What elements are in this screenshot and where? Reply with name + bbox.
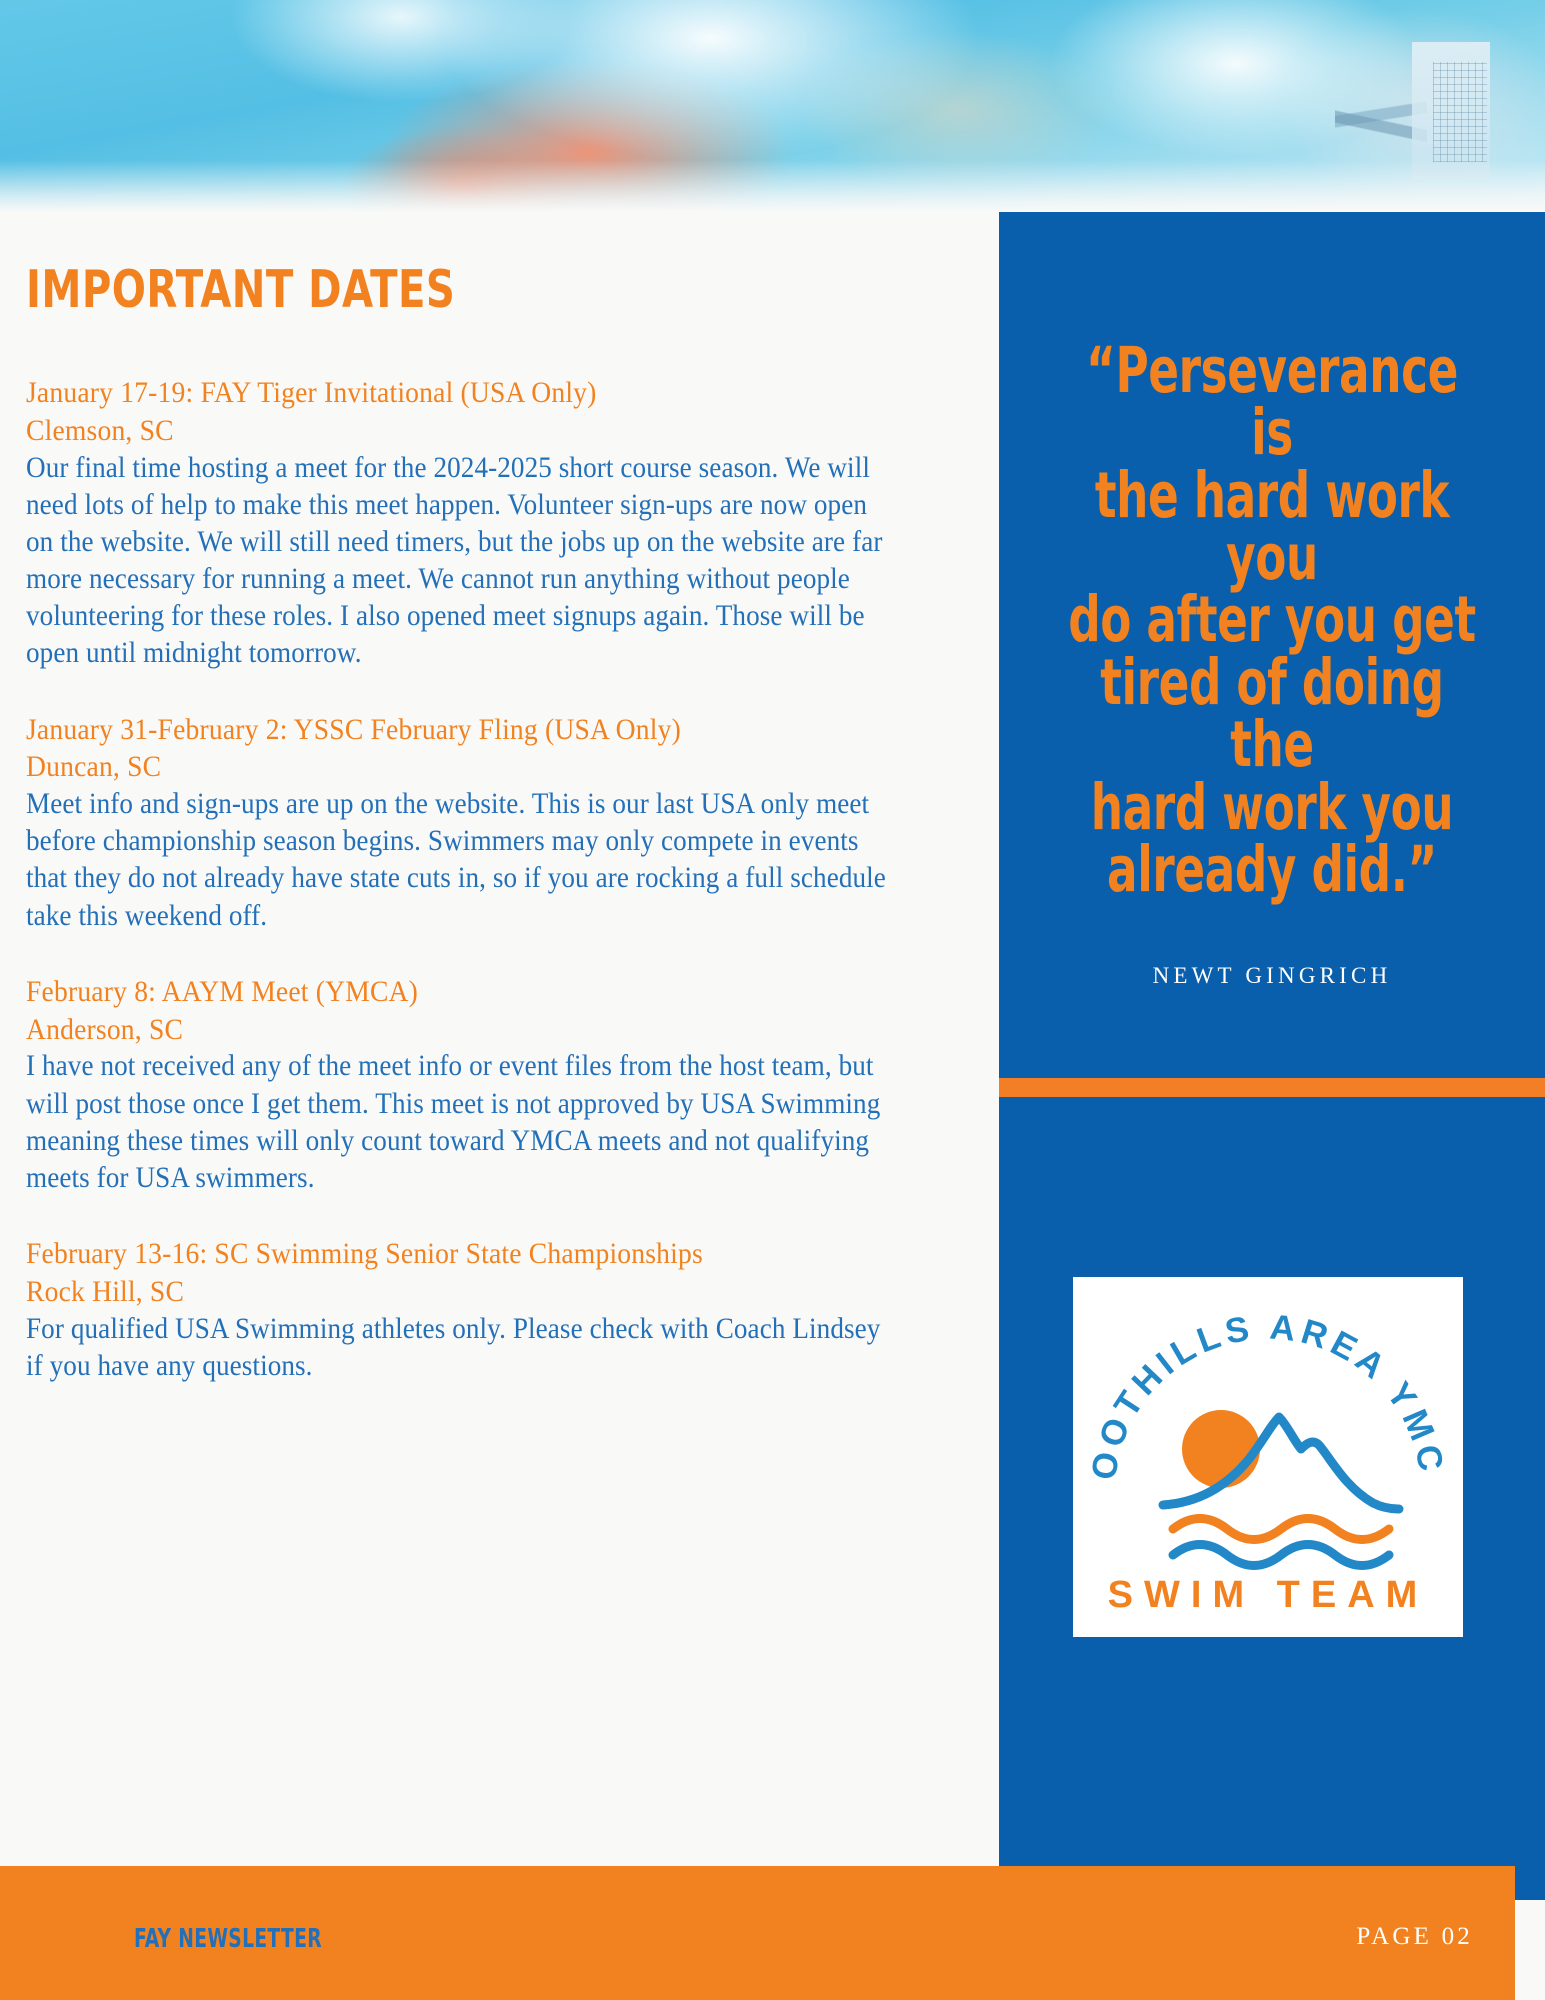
logo-card: FOOTHILLS AREA YMCA SWIM TEAM <box>1073 1277 1463 1637</box>
newsletter-page: “Perseverance is the hard work you do af… <box>0 0 1545 2000</box>
wave-blue-icon <box>1173 1545 1389 1566</box>
event-title: February 13-16: SC Swimming Senior State… <box>26 1235 898 1273</box>
main-content: IMPORTANT DATES January 17-19: FAY Tiger… <box>26 260 974 1423</box>
event-location: Anderson, SC <box>26 1011 898 1049</box>
wave-orange-icon <box>1173 1519 1389 1540</box>
page-title: IMPORTANT DATES <box>26 260 841 320</box>
event-location: Clemson, SC <box>26 412 898 450</box>
sun-icon <box>1182 1410 1260 1488</box>
logo-arc-text: FOOTHILLS AREA YMCA <box>1073 1277 1451 1483</box>
sidebar-divider <box>999 1078 1545 1097</box>
starting-block-grid <box>1433 62 1487 162</box>
event-item: February 13-16: SC Swimming Senior State… <box>26 1235 974 1385</box>
event-title: January 31-February 2: YSSC February Fli… <box>26 711 898 749</box>
event-title: February 8: AAYM Meet (YMCA) <box>26 973 898 1011</box>
quote-author: NEWT GINGRICH <box>1012 963 1532 989</box>
event-title: January 17-19: FAY Tiger Invitational (U… <box>26 374 898 412</box>
event-item: January 17-19: FAY Tiger Invitational (U… <box>26 374 974 673</box>
footer-page-number: PAGE 02 <box>1356 1923 1473 1951</box>
event-body: Our final time hosting a meet for the 20… <box>26 450 898 673</box>
hero-banner <box>0 0 1545 212</box>
event-item: January 31-February 2: YSSC February Fli… <box>26 711 974 935</box>
hero-fade-overlay <box>0 160 1545 212</box>
event-item: February 8: AAYM Meet (YMCA) Anderson, S… <box>26 973 974 1197</box>
event-body: Meet info and sign-ups are up on the web… <box>26 786 898 935</box>
event-location: Duncan, SC <box>26 748 898 786</box>
event-body: For qualified USA Swimming athletes only… <box>26 1311 898 1385</box>
foothills-area-ymca-swim-team-logo: FOOTHILLS AREA YMCA SWIM TEAM <box>1073 1277 1463 1637</box>
event-body: I have not received any of the meet info… <box>26 1048 898 1197</box>
footer-newsletter-label: FAY NEWSLETTER <box>134 1924 322 1954</box>
quote-text: “Perseverance is the hard work you do af… <box>1064 340 1480 901</box>
logo-bottom-text: SWIM TEAM <box>1108 1574 1429 1616</box>
quote-block: “Perseverance is the hard work you do af… <box>1012 340 1532 989</box>
event-location: Rock Hill, SC <box>26 1273 898 1311</box>
